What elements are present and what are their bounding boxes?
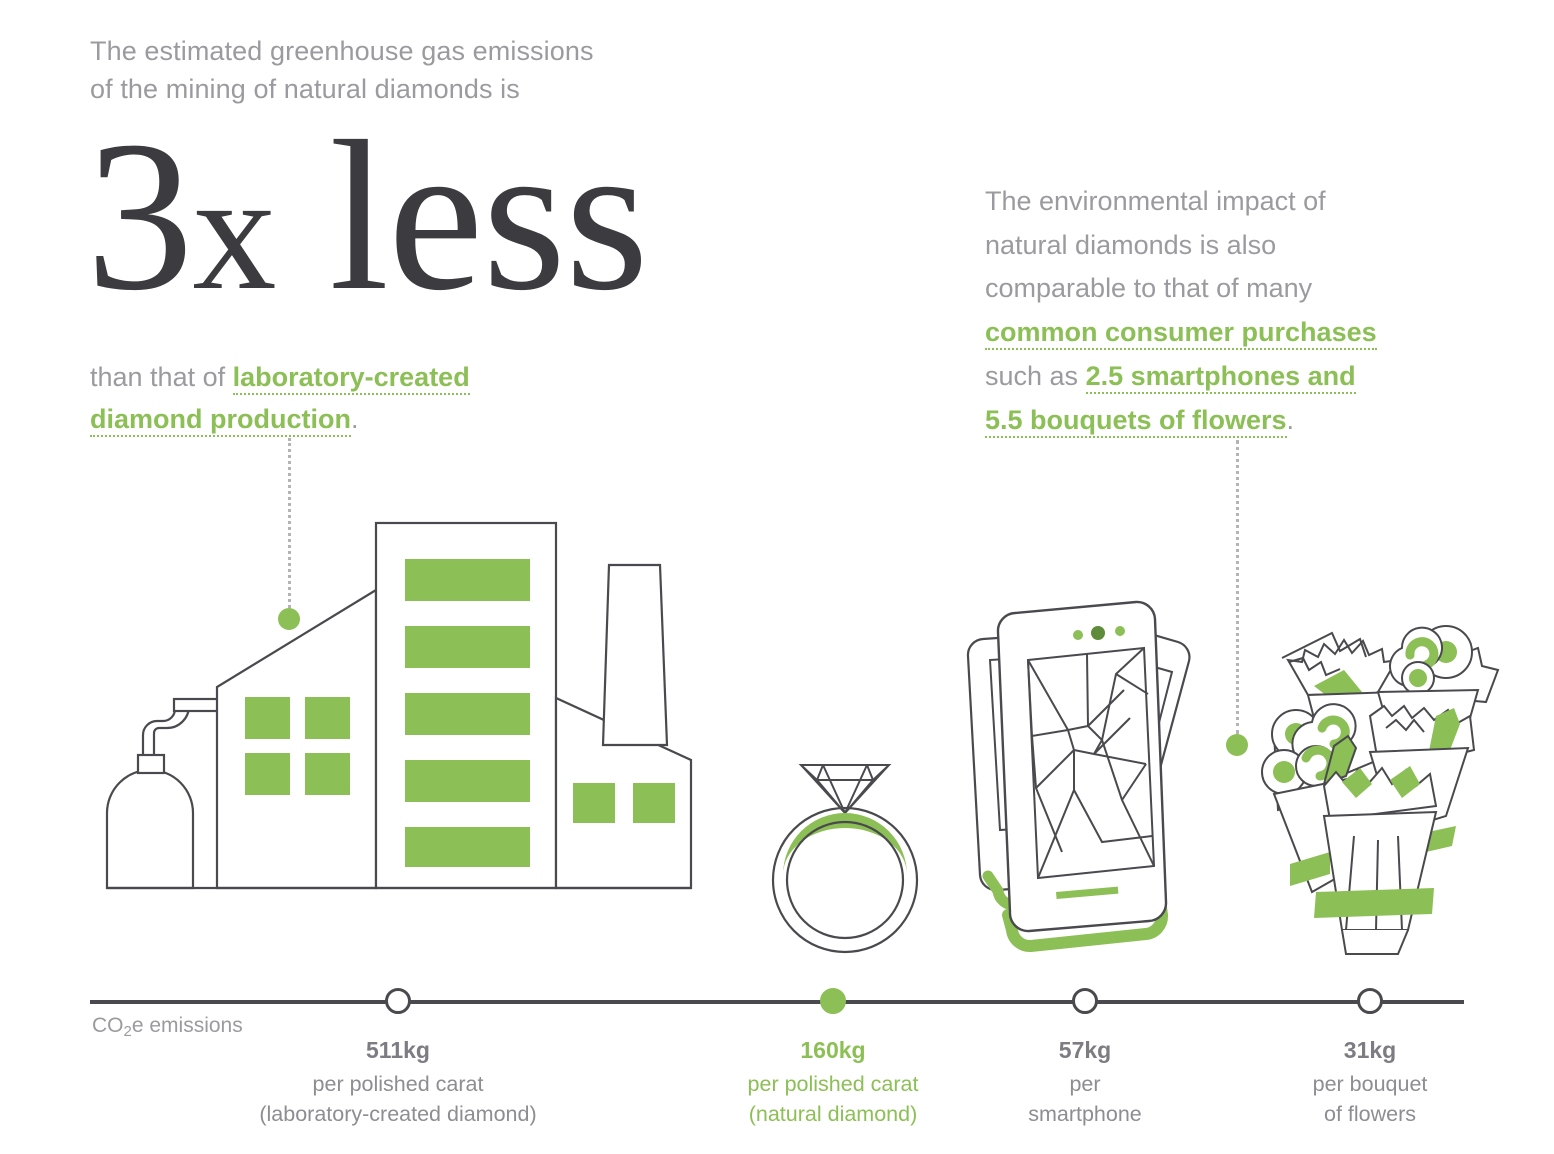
tick-desc-0-line2: (laboratory-created diamond) — [259, 1102, 536, 1126]
axis-marker-1[interactable] — [820, 988, 846, 1014]
tick-desc-2-line2: smartphone — [1028, 1102, 1142, 1126]
axis-marker-3[interactable] — [1357, 988, 1383, 1014]
intro-right-lead-2: such as — [985, 361, 1086, 391]
intro-right-text: The environmental impact of natural diam… — [985, 180, 1465, 442]
headline-word: less — [329, 96, 648, 335]
factory-icon — [95, 505, 705, 965]
intro-right-highlight-2: 2.5 smartphones and — [1086, 361, 1356, 394]
flower-bouquets-icon — [1250, 600, 1500, 970]
sub-left-text: than that of laboratory-createddiamond p… — [90, 356, 710, 440]
tick-label-0: 511kg per polished carat (laboratory-cre… — [228, 1034, 568, 1130]
tick-value-0: 511kg — [228, 1034, 568, 1067]
axis-marker-2[interactable] — [1072, 988, 1098, 1014]
headline-number: 3 — [86, 96, 193, 335]
intro-right-highlight-3: 5.5 bouquets of flowers — [985, 405, 1287, 438]
tick-desc-1-line1: per polished carat — [748, 1072, 919, 1096]
tick-desc-3-line2: of flowers — [1324, 1102, 1416, 1126]
axis-caption-post: e emissions — [132, 1014, 243, 1037]
infographic-canvas: The estimated greenhouse gas emissions o… — [0, 0, 1554, 1154]
axis-caption-pre: CO — [92, 1014, 124, 1037]
connector-right-dot — [1226, 734, 1248, 756]
tick-label-3: 31kg per bouquet of flowers — [1200, 1034, 1540, 1130]
intro-right-line-3: comparable to that of many — [985, 267, 1465, 311]
tick-desc-3-line1: per bouquet — [1313, 1072, 1428, 1096]
smartphones-icon — [950, 590, 1205, 965]
tick-value-3: 31kg — [1200, 1034, 1540, 1067]
intro-right-line-1: The environmental impact of — [985, 180, 1465, 224]
axis-marker-0[interactable] — [385, 988, 411, 1014]
tick-desc-2-line1: per — [1069, 1072, 1100, 1096]
intro-right-period: . — [1287, 405, 1295, 435]
intro-left-line-1: The estimated greenhouse gas emissions — [90, 32, 730, 70]
tick-desc-0-line1: per polished carat — [313, 1072, 484, 1096]
connector-right-line — [1236, 440, 1239, 734]
axis-caption: CO2e emissions — [92, 1014, 243, 1038]
axis-line — [90, 1000, 1464, 1004]
intro-right-highlight-1: common consumer purchases — [985, 317, 1377, 350]
sub-left-lead: than that of — [90, 362, 233, 392]
headline-multiplier: x — [193, 139, 277, 325]
diamond-ring-icon — [755, 735, 935, 960]
axis-caption-subscript: 2 — [124, 1023, 132, 1040]
sub-left-period: . — [351, 404, 359, 434]
headline: 3x less — [86, 108, 648, 323]
sub-left-highlight-2: diamond production — [90, 404, 351, 437]
tick-desc-1-line2: (natural diamond) — [749, 1102, 918, 1126]
intro-right-line-2: natural diamonds is also — [985, 224, 1465, 268]
sub-left-highlight-1: laboratory-created — [233, 362, 470, 395]
